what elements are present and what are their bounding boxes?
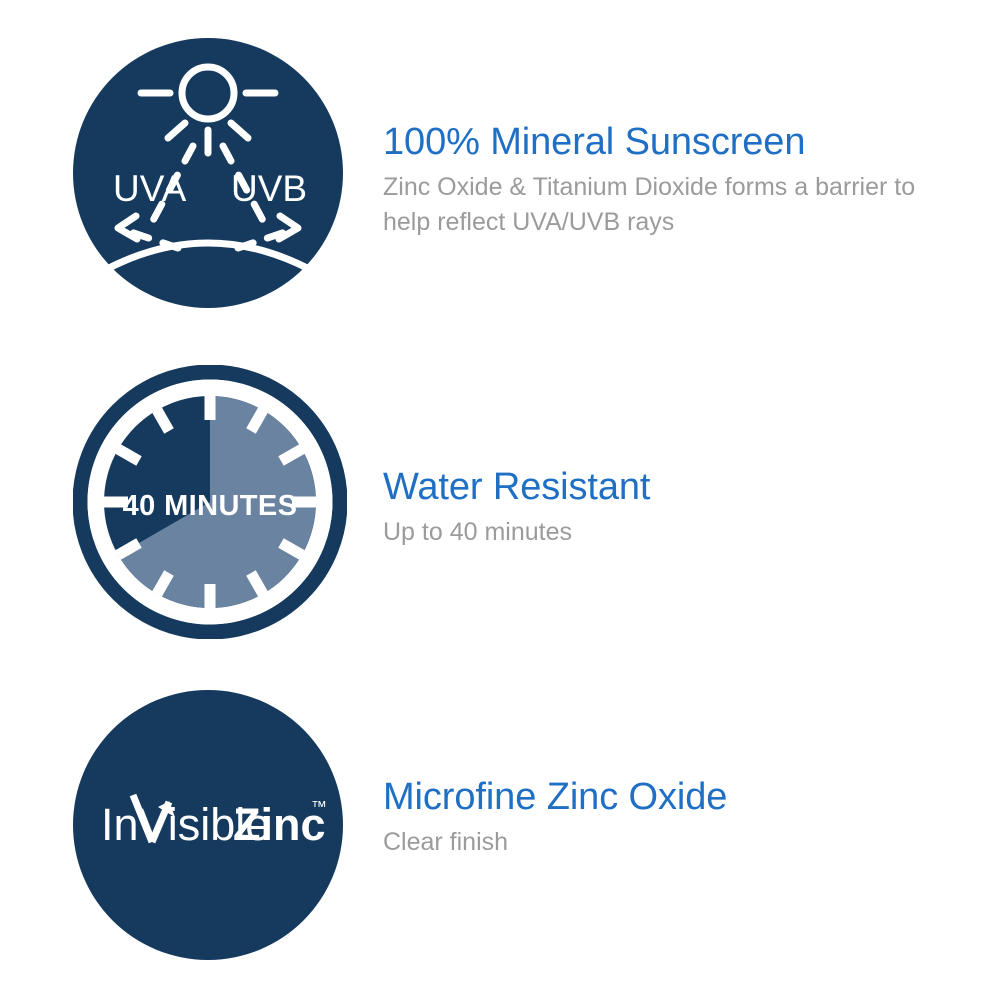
feature-title: Microfine Zinc Oxide <box>383 775 953 820</box>
product-feature-infographic: UVA UVB 100% Mineral Sunscreen Zinc Oxid… <box>0 0 1000 1000</box>
feature-description: Zinc Oxide & Titanium Dioxide forms a ba… <box>383 170 943 241</box>
trademark-symbol: ™ <box>311 799 327 816</box>
feature-text-microfine-zinc-oxide: Microfine Zinc Oxide Clear finish <box>383 775 953 860</box>
feature-text-mineral-sunscreen: 100% Mineral Sunscreen Zinc Oxide & Tita… <box>383 120 953 241</box>
uva-uvb-sun-reflect-icon: UVA UVB <box>73 38 343 308</box>
feature-description: Up to 40 minutes <box>383 515 943 551</box>
uva-label: UVA <box>113 168 187 209</box>
feature-title: 100% Mineral Sunscreen <box>383 120 953 165</box>
feature-text-water-resistant: Water Resistant Up to 40 minutes <box>383 465 953 550</box>
invisible-zinc-logo-icon: InVisible Zinc ™ <box>73 690 343 960</box>
feature-row-microfine-zinc-oxide: InVisible Zinc ™ Microfine Zinc Oxide Cl… <box>0 690 1000 960</box>
uvb-label: UVB <box>231 168 307 209</box>
clock-40-minutes-icon: 40 MINUTES <box>73 365 347 639</box>
clock-duration-label: 40 MINUTES <box>123 490 298 522</box>
feature-row-water-resistant: 40 MINUTES Water Resistant Up to 40 minu… <box>0 365 1000 640</box>
feature-title: Water Resistant <box>383 465 953 510</box>
feature-row-mineral-sunscreen: UVA UVB 100% Mineral Sunscreen Zinc Oxid… <box>0 38 1000 308</box>
feature-description: Clear finish <box>383 825 943 861</box>
